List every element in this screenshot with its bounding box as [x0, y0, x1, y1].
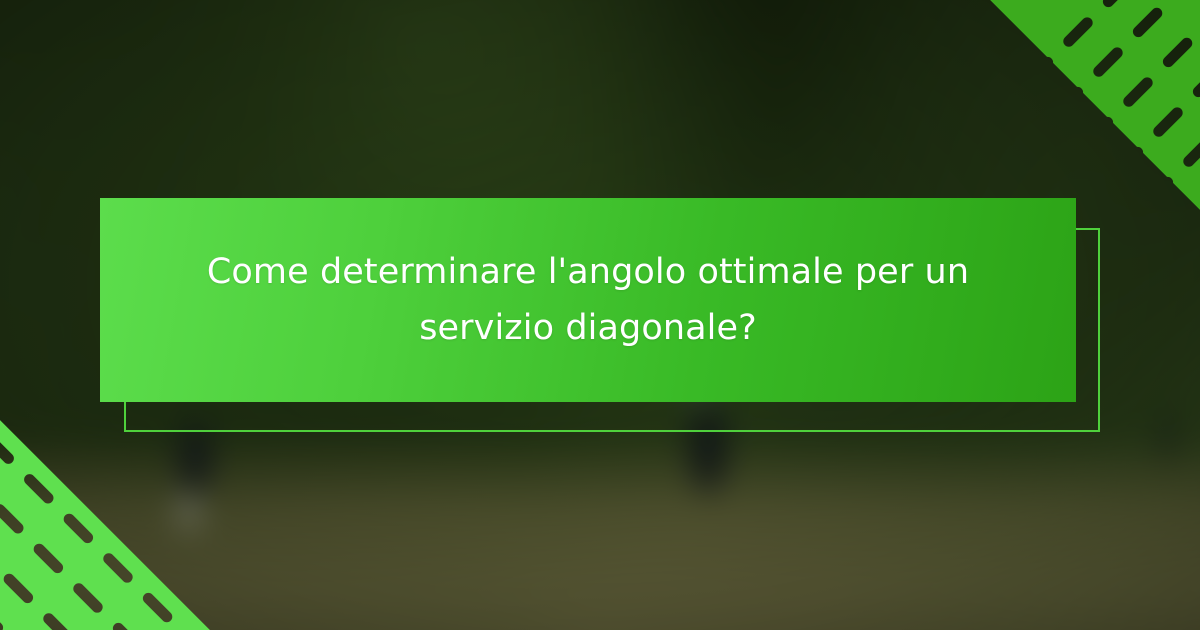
headline-card: Come determinare l'angolo ottimale per u…: [100, 198, 1076, 402]
page-title: Come determinare l'angolo ottimale per u…: [158, 244, 1018, 356]
screenshot-stage: Come determinare l'angolo ottimale per u…: [0, 0, 1200, 630]
